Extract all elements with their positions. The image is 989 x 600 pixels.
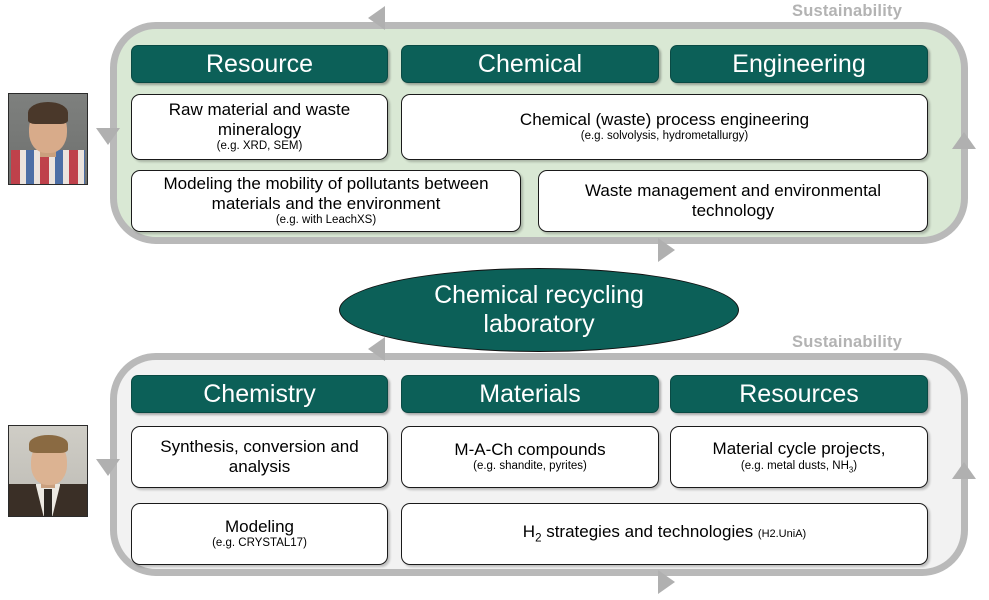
header-engineering[interactable]: Engineering [670,45,928,83]
header-resources-label: Resources [739,380,859,409]
card-modeling-main: Modeling [225,517,294,537]
arrow-bottom-right-top-cycle [658,238,675,262]
header-chemistry-label: Chemistry [203,380,316,409]
card-h2-strategies-technologies[interactable]: H2 strategies and technologies (H2.UniA) [401,503,928,565]
card-raw-material-mineralogy-sub: (e.g. XRD, SEM) [217,140,303,154]
header-chemistry[interactable]: Chemistry [131,375,388,413]
chemical-recycling-laboratory-node[interactable]: Chemical recycling laboratory [339,268,739,352]
sustainability-label-top: Sustainability [792,2,902,21]
card-waste-management-environmental-technology-main: Waste management and environmental techn… [547,181,919,220]
arrow-up-right-top-cycle [952,132,976,149]
card-h2-strategies-technologies-sub: (H2.UniA) [758,528,806,540]
card-modeling-sub: (e.g. CRYSTAL17) [212,537,307,551]
card-chemical-waste-process-engineering-main: Chemical (waste) process engineering [520,110,809,130]
researcher-photo-top [8,93,88,185]
card-chemical-waste-process-engineering[interactable]: Chemical (waste) process engineering (e.… [401,94,928,160]
arrow-up-right-bottom-cycle [952,462,976,479]
card-raw-material-mineralogy-main: Raw material and waste mineralogy [140,100,379,139]
card-modeling[interactable]: Modeling (e.g. CRYSTAL17) [131,503,388,565]
card-mach-compounds-main: M-A-Ch compounds [454,440,605,460]
card-mach-compounds-sub: (e.g. shandite, pyrites) [473,460,587,474]
arrow-top-left-top-cycle [368,6,385,30]
photo-hair-bottom [29,435,68,453]
center-node-line1: Chemical recycling [434,281,644,311]
arrow-down-left-top-cycle [96,128,120,145]
center-node-line2: laboratory [434,310,644,340]
diagram-canvas: Sustainability Resource Chemical Enginee… [0,0,989,600]
header-chemical-label: Chemical [478,50,582,79]
card-mach-compounds[interactable]: M-A-Ch compounds (e.g. shandite, pyrites… [401,426,659,488]
card-modeling-pollutant-mobility[interactable]: Modeling the mobility of pollutants betw… [131,170,521,232]
researcher-photo-bottom [8,425,88,517]
header-materials-label: Materials [479,380,580,409]
card-raw-material-mineralogy[interactable]: Raw material and waste mineralogy (e.g. … [131,94,388,160]
card-waste-management-environmental-technology[interactable]: Waste management and environmental techn… [538,170,928,232]
photo-hair-top [28,102,69,124]
header-resource[interactable]: Resource [131,45,388,83]
photo-tie-bottom [44,489,52,516]
card-h2-strategies-technologies-main: H2 strategies and technologies (H2.UniA) [523,522,806,546]
header-chemical[interactable]: Chemical [401,45,659,83]
header-resource-label: Resource [206,50,313,79]
header-engineering-label: Engineering [732,50,865,79]
card-synthesis-conversion-analysis-main: Synthesis, conversion and analysis [140,437,379,476]
card-synthesis-conversion-analysis[interactable]: Synthesis, conversion and analysis [131,426,388,488]
card-material-cycle-projects[interactable]: Material cycle projects, (e.g. metal dus… [670,426,928,488]
arrow-bottom-right-bottom-cycle [658,570,675,594]
card-material-cycle-projects-sub: (e.g. metal dusts, NH3) [741,460,857,475]
header-resources[interactable]: Resources [670,375,928,413]
card-modeling-pollutant-mobility-sub: (e.g. with LeachXS) [276,214,376,228]
arrow-down-left-bottom-cycle [96,459,120,476]
header-materials[interactable]: Materials [401,375,659,413]
card-modeling-pollutant-mobility-main: Modeling the mobility of pollutants betw… [140,174,512,213]
arrow-top-left-bottom-cycle [368,337,385,361]
card-material-cycle-projects-main: Material cycle projects, [713,439,886,459]
card-chemical-waste-process-engineering-sub: (e.g. solvolysis, hydrometallurgy) [581,130,748,144]
sustainability-label-bottom: Sustainability [792,333,902,352]
